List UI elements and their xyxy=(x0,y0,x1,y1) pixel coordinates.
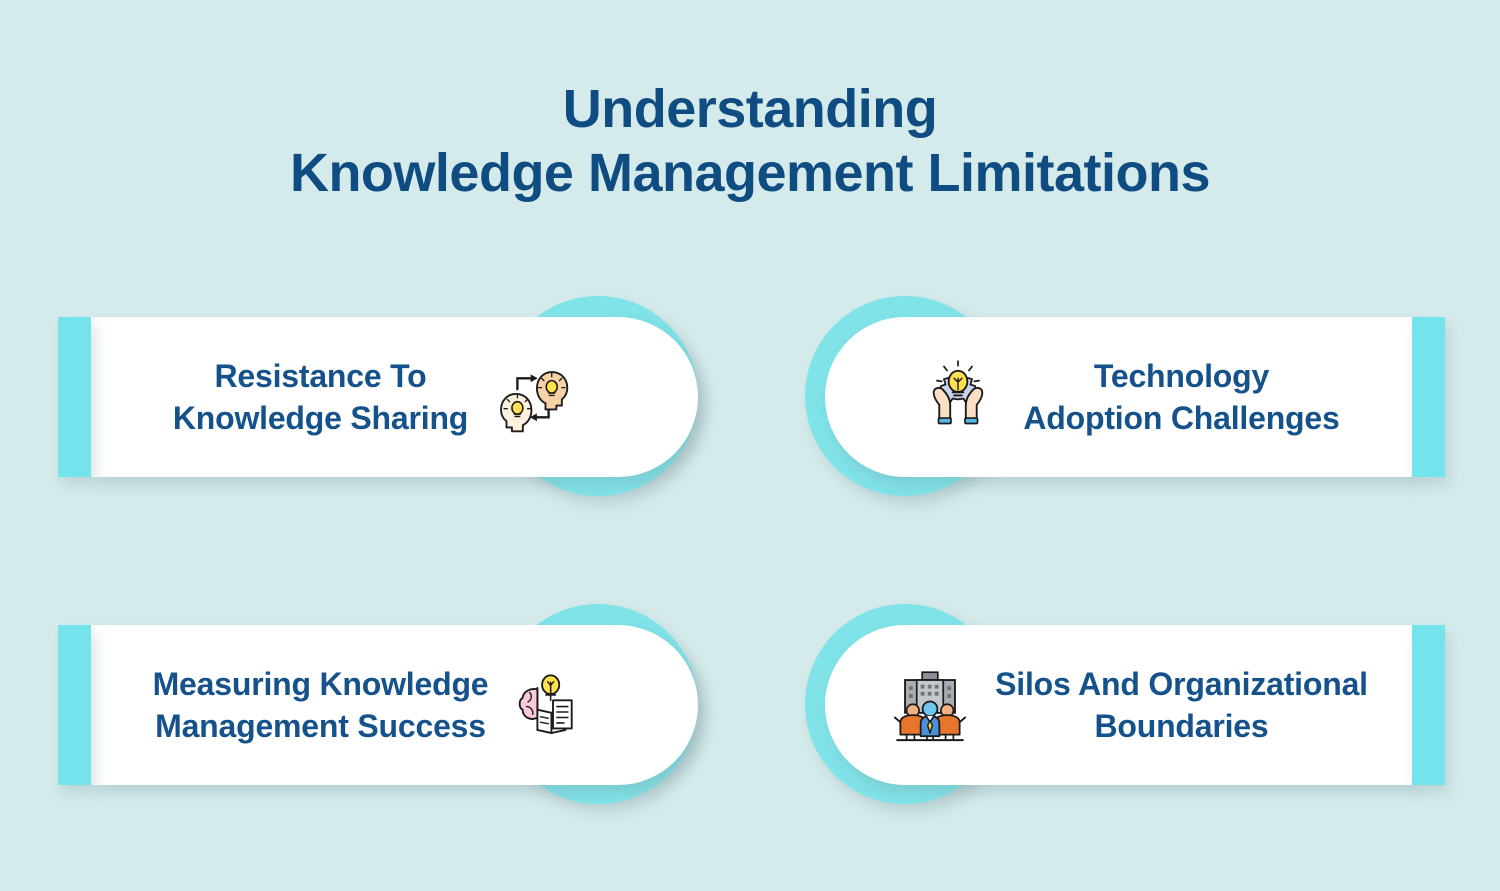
card-label: Technology Adoption Challenges xyxy=(1023,355,1339,439)
card-label: Resistance To Knowledge Sharing xyxy=(173,355,468,439)
card-accent-bar xyxy=(58,625,91,785)
page-title-line-1: Understanding xyxy=(0,78,1500,142)
office-building-team-icon xyxy=(891,666,969,744)
card-content: Resistance To Knowledge Sharing xyxy=(91,317,698,477)
card-accent-bar xyxy=(1412,317,1445,477)
card-label: Measuring Knowledge Management Success xyxy=(153,663,489,747)
card-measuring-knowledge-management-success[interactable]: Measuring Knowledge Management Success xyxy=(58,598,698,808)
card-content: Measuring Knowledge Management Success xyxy=(91,625,698,785)
card-label: Silos And Organizational Boundaries xyxy=(995,663,1368,747)
brain-book-lightbulb-icon xyxy=(514,666,592,744)
card-accent-bar xyxy=(1412,625,1445,785)
two-heads-lightbulb-exchange-icon xyxy=(494,358,572,436)
card-content: Silos And Organizational Boundaries xyxy=(825,625,1412,785)
hands-gear-lightbulb-icon xyxy=(919,358,997,436)
card-silos-and-organizational-boundaries[interactable]: Silos And Organizational Boundaries xyxy=(805,598,1445,808)
card-accent-bar xyxy=(58,317,91,477)
page-title-line-2: Knowledge Management Limitations xyxy=(0,142,1500,206)
card-technology-adoption-challenges[interactable]: Technology Adoption Challenges xyxy=(805,290,1445,500)
page-title: Understanding Knowledge Management Limit… xyxy=(0,78,1500,205)
card-content: Technology Adoption Challenges xyxy=(825,317,1412,477)
card-resistance-to-knowledge-sharing[interactable]: Resistance To Knowledge Sharing xyxy=(58,290,698,500)
